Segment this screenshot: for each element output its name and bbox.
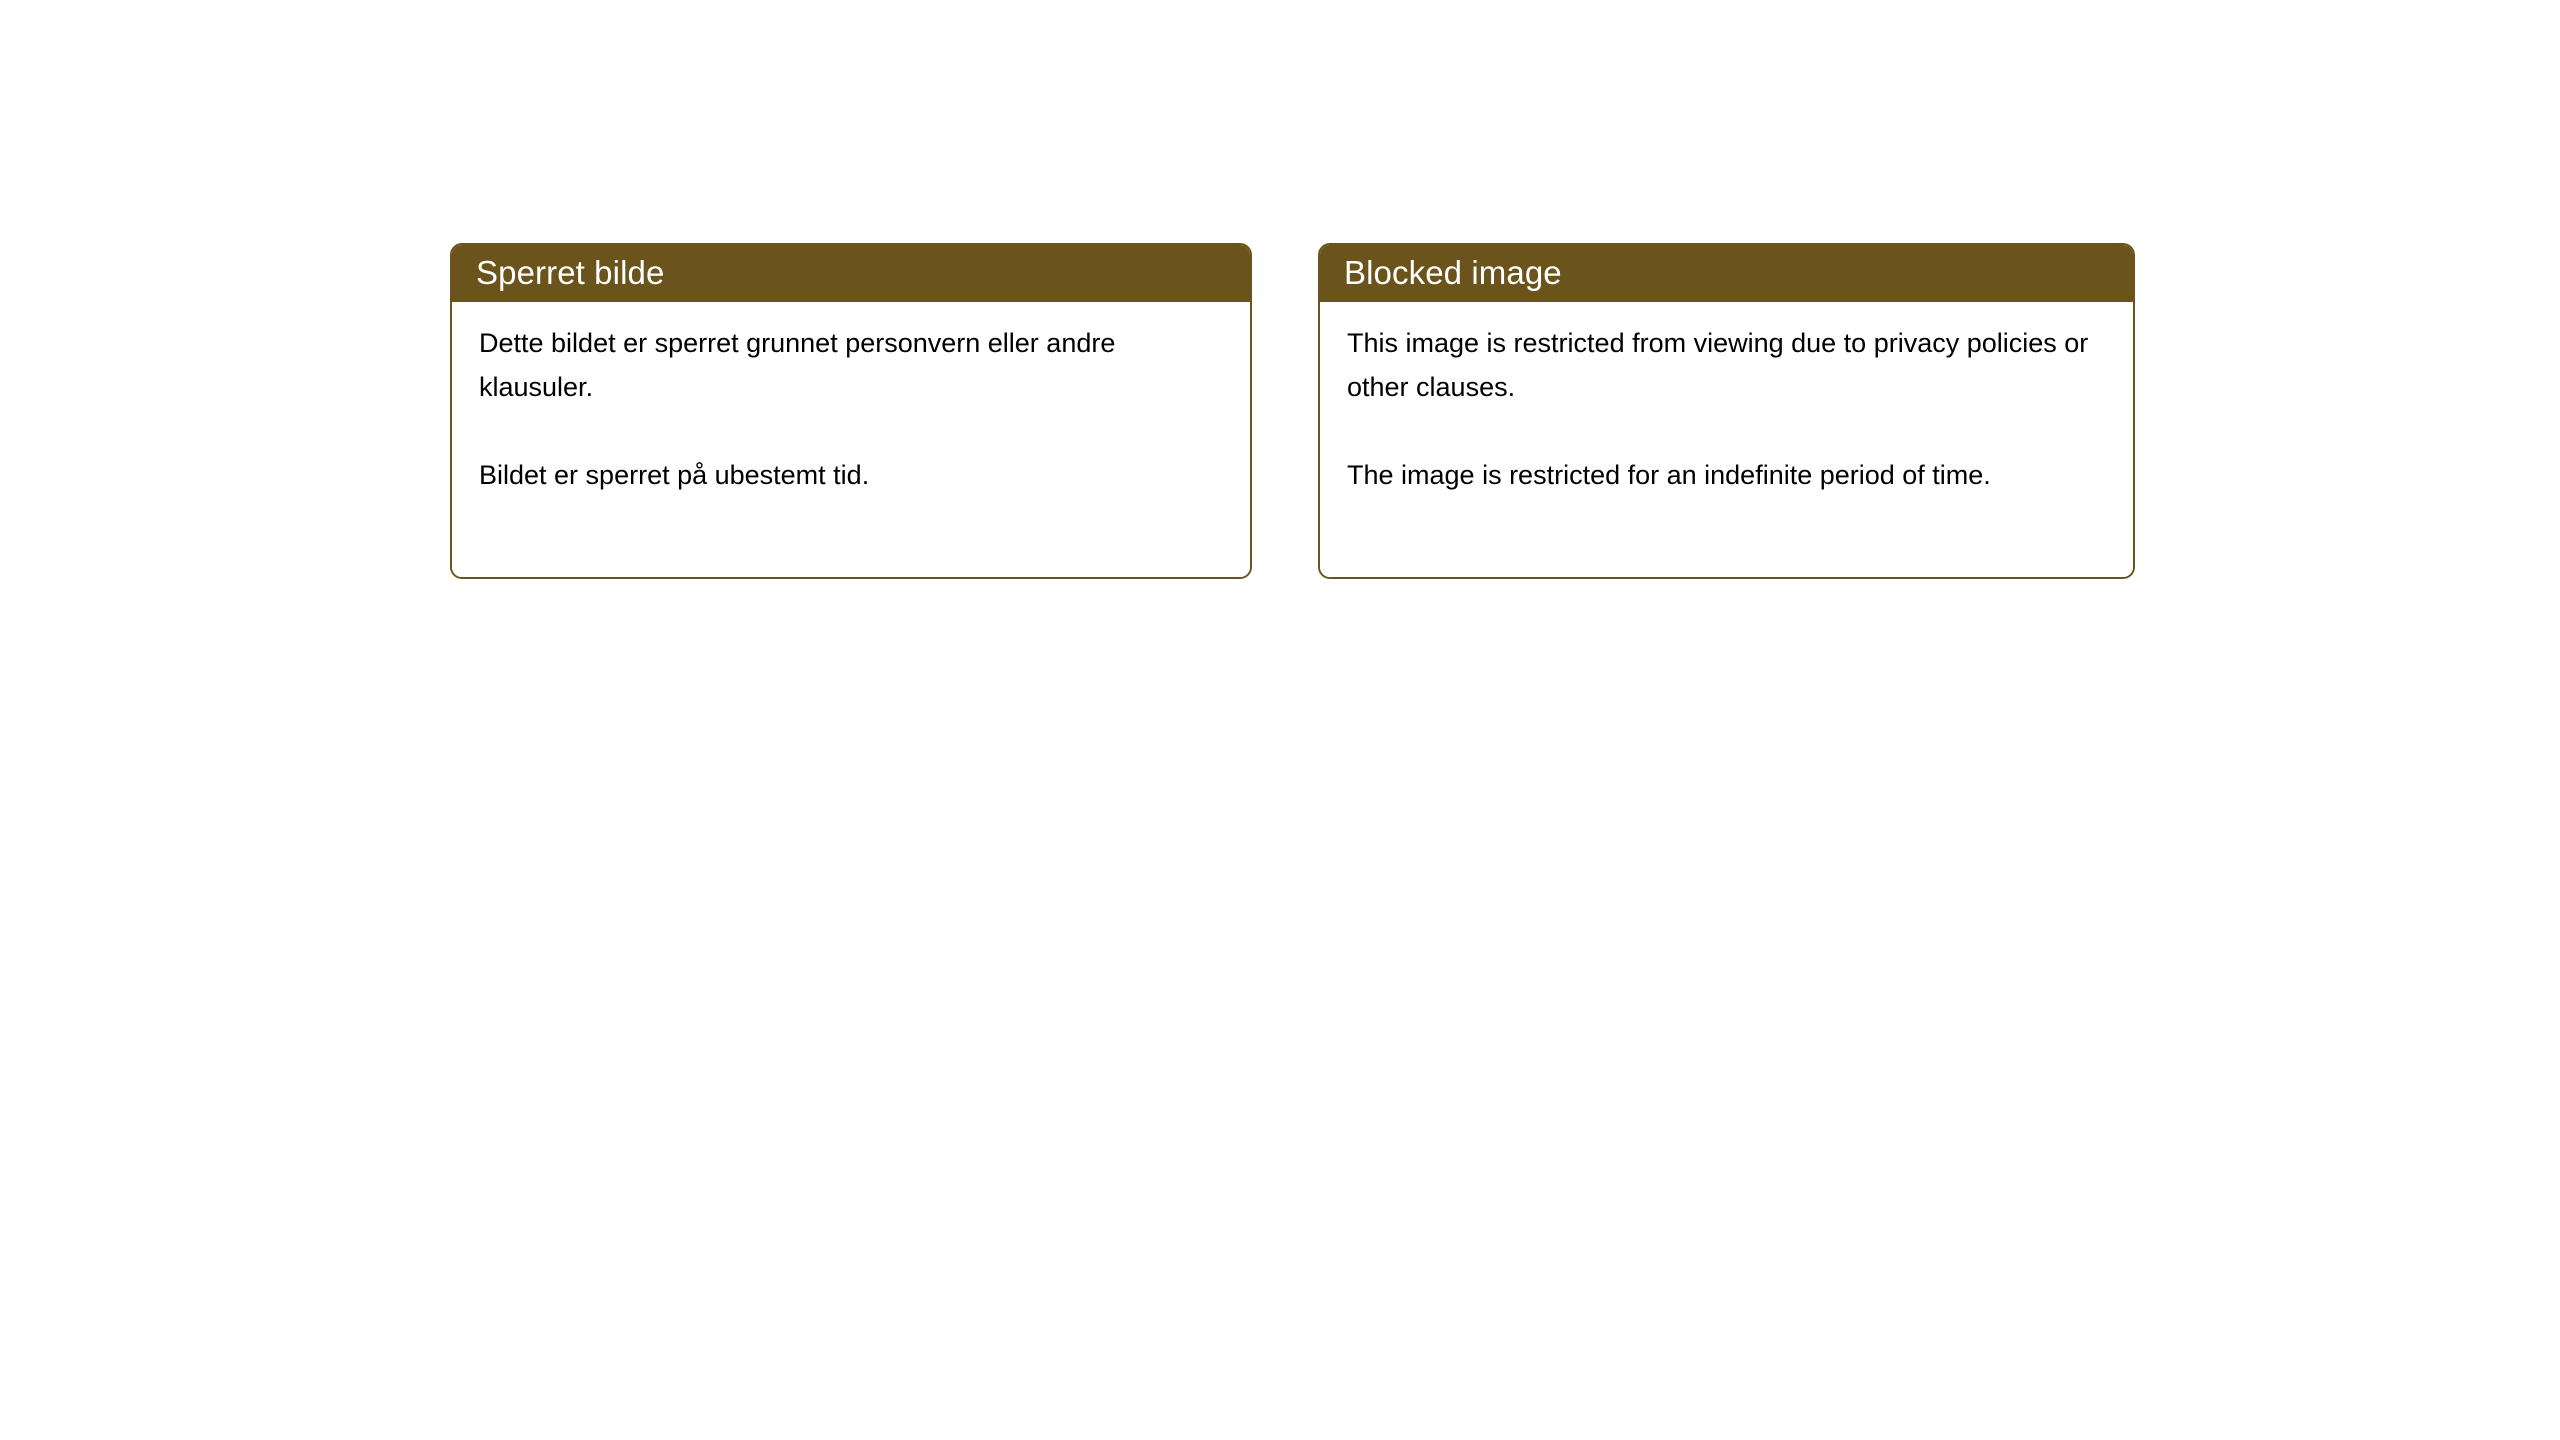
card-body-no: Dette bildet er sperret grunnet personve… [452,302,1250,577]
card-title-en: Blocked image [1344,255,1562,291]
card-body-en: This image is restricted from viewing du… [1320,302,2133,577]
card-paragraph-secondary-en: The image is restricted for an indefinit… [1347,453,2107,497]
paragraph-spacer-en [1347,409,2107,453]
paragraph-spacer-no [479,409,1224,453]
card-paragraph-primary-no: Dette bildet er sperret grunnet personve… [479,321,1224,409]
page-root: Sperret bilde Dette bildet er sperret gr… [0,0,2560,1440]
blocked-image-card-en: Blocked image This image is restricted f… [1318,243,2135,579]
card-title-no: Sperret bilde [476,255,664,291]
card-header-en: Blocked image [1318,243,2135,302]
card-paragraph-secondary-no: Bildet er sperret på ubestemt tid. [479,453,1224,497]
notice-card-group: Sperret bilde Dette bildet er sperret gr… [450,243,2135,579]
blocked-image-card-no: Sperret bilde Dette bildet er sperret gr… [450,243,1252,579]
card-paragraph-primary-en: This image is restricted from viewing du… [1347,321,2107,409]
card-header-no: Sperret bilde [450,243,1252,302]
